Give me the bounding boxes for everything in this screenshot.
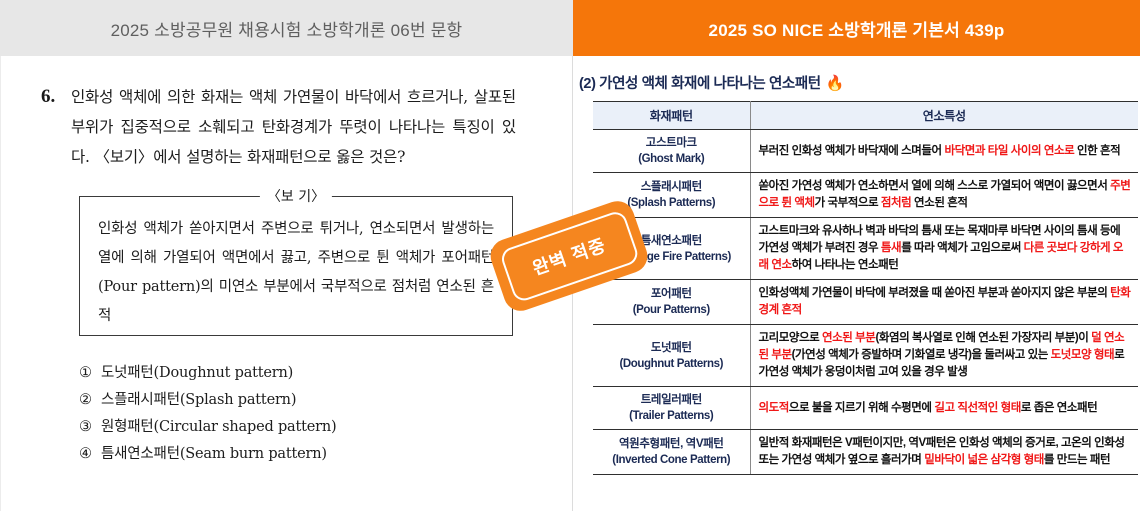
table-header-row: 화재패턴 연소특성 xyxy=(593,102,1138,130)
desc-text: 인한 흔적 xyxy=(1074,145,1120,157)
col-header-pattern: 화재패턴 xyxy=(593,102,750,130)
desc-text: 를 만드는 패턴 xyxy=(1044,454,1110,466)
pattern-desc-cell: 고스트마크와 유사하나 벽과 바닥의 틈새 또는 목재마루 바닥면 사이의 틈새… xyxy=(750,218,1138,280)
table-row: 스플래시패턴(Splash Patterns)쏟아진 가연성 액체가 연소하면서… xyxy=(593,173,1138,218)
choice-4[interactable]: ④ 틈새연소패턴(Seam burn pattern) xyxy=(79,441,532,468)
pattern-name-cell: 고스트마크(Ghost Mark) xyxy=(593,130,750,173)
pattern-name-cell: 트레일러패턴(Trailer Patterns) xyxy=(593,387,750,430)
choice-1[interactable]: ① 도넛패턴(Doughnut pattern) xyxy=(79,360,532,387)
right-panel-textbook: 2025 SO NICE 소방학개론 기본서 439p (2) 가연성 액체 화… xyxy=(573,0,1140,511)
section-title: (2) 가연성 액체 화재에 나타나는 연소패턴 xyxy=(579,72,821,93)
highlighted-keyword: 도넛모양 형태 xyxy=(1051,349,1115,361)
fire-pattern-table: 화재패턴 연소특성 고스트마크(Ghost Mark)부러진 인화성 액체가 바… xyxy=(593,101,1138,475)
highlighted-keyword: 바닥면과 타일 사이의 연소로 xyxy=(944,145,1074,157)
choice-4-label: 틈새연소패턴(Seam burn pattern) xyxy=(101,441,327,468)
question-block: 6. 인화성 액체에 의한 화재는 액체 가연물이 바닥에서 흐르거나, 살포된… xyxy=(41,82,532,172)
desc-text: 연소된 흔적 xyxy=(911,197,967,209)
table-body: 고스트마크(Ghost Mark)부러진 인화성 액체가 바닥재에 스며들어 바… xyxy=(593,130,1138,475)
pattern-name-en: (Doughnut Patterns) xyxy=(597,356,746,372)
highlighted-keyword: 틈새 xyxy=(881,242,901,254)
bogi-passage-box: 〈보 기〉 인화성 액체가 쏟아지면서 주변으로 튀거나, 연소되면서 발생하는… xyxy=(79,196,513,336)
pattern-name-ko: 고스트마크 xyxy=(597,135,746,151)
pattern-name-ko: 스플래시패턴 xyxy=(597,179,746,195)
pattern-name-en: (Inverted Cone Pattern) xyxy=(597,452,746,468)
desc-text: 하여 나타나는 연소패턴 xyxy=(792,259,899,271)
desc-text: 가 국부적으로 xyxy=(815,197,881,209)
table-head: 화재패턴 연소특성 xyxy=(593,102,1138,130)
flame-icon: 🔥 xyxy=(826,74,844,92)
pattern-desc-cell: 일반적 화재패턴은 V패턴이지만, 역V패턴은 인화성 액체의 증거로, 고온의… xyxy=(750,430,1138,475)
pattern-name-cell: 포어패턴(Pour Patterns) xyxy=(593,280,750,325)
pattern-desc-cell: 고리모양으로 연소된 부분(화염의 복사열로 인해 연소된 가장자리 부분)이 … xyxy=(750,325,1138,387)
bogi-text: 인화성 액체가 쏟아지면서 주변으로 튀거나, 연소되면서 발생하는 열에 의해… xyxy=(80,197,512,331)
pattern-desc-cell: 부러진 인화성 액체가 바닥재에 스며들어 바닥면과 타일 사이의 연소로 인한… xyxy=(750,130,1138,173)
choice-3[interactable]: ③ 원형패턴(Circular shaped pattern) xyxy=(79,414,532,441)
question-text: 인화성 액체에 의한 화재는 액체 가연물이 바닥에서 흐르거나, 살포된 부위… xyxy=(71,82,516,172)
highlighted-keyword: 길고 직선적인 형태 xyxy=(934,402,1021,414)
question-number: 6. xyxy=(41,82,71,172)
highlighted-keyword: 의도적 xyxy=(759,402,789,414)
choice-4-marker: ④ xyxy=(79,441,101,468)
answer-choices: ① 도넛패턴(Doughnut pattern) ② 스플래시패턴(Splash… xyxy=(79,360,532,468)
badge-label: 완벽 적중 xyxy=(529,231,610,280)
left-panel-header: 2025 소방공무원 채용시험 소방학개론 06번 문항 xyxy=(0,0,573,56)
table-row: 도넛패턴(Doughnut Patterns)고리모양으로 연소된 부분(화염의… xyxy=(593,325,1138,387)
comparison-page: 2025 소방공무원 채용시험 소방학개론 06번 문항 6. 인화성 액체에 … xyxy=(0,0,1140,511)
desc-text: 인화성액체 가연물이 바닥에 부려졌을 때 쏟아진 부분과 쏟아지지 않은 부분… xyxy=(759,287,1111,299)
section-title-row: (2) 가연성 액체 화재에 나타나는 연소패턴 🔥 xyxy=(573,68,1140,101)
pattern-name-ko: 트레일러패턴 xyxy=(597,392,746,408)
desc-text: 고리모양으로 xyxy=(759,332,823,344)
desc-text: 를 따라 액체가 고임으로써 xyxy=(901,242,1023,254)
desc-text: (가연성 액체가 증발하며 기화열로 냉각)을 둘러싸고 있는 xyxy=(792,349,1051,361)
table-row: 고스트마크(Ghost Mark)부러진 인화성 액체가 바닥재에 스며들어 바… xyxy=(593,130,1138,173)
pattern-name-cell: 역원추형패턴, 역V패턴(Inverted Cone Pattern) xyxy=(593,430,750,475)
pattern-name-ko: 도넛패턴 xyxy=(597,340,746,356)
pattern-name-cell: 도넛패턴(Doughnut Patterns) xyxy=(593,325,750,387)
table-row: 역원추형패턴, 역V패턴(Inverted Cone Pattern)일반적 화… xyxy=(593,430,1138,475)
table-row: 틈새연소패턴(Seepage Fire Patterns)고스트마크와 유사하나… xyxy=(593,218,1138,280)
desc-text: (화염의 복사열로 인해 연소된 가장자리 부분)이 xyxy=(875,332,1091,344)
choice-1-label: 도넛패턴(Doughnut pattern) xyxy=(101,360,293,387)
pattern-name-en: (Pour Patterns) xyxy=(597,302,746,318)
table-row: 트레일러패턴(Trailer Patterns)의도적으로 불을 지르기 위해 … xyxy=(593,387,1138,430)
desc-text: 쏟아진 가연성 액체가 연소하면서 열에 의해 스스로 가열되어 액면이 끓으면… xyxy=(759,180,1111,192)
desc-text: 부러진 인화성 액체가 바닥재에 스며들어 xyxy=(759,145,945,157)
desc-text: 로 좁은 연소패턴 xyxy=(1021,402,1097,414)
choice-2[interactable]: ② 스플래시패턴(Splash pattern) xyxy=(79,387,532,414)
pattern-name-en: (Ghost Mark) xyxy=(597,151,746,167)
right-panel-header: 2025 SO NICE 소방학개론 기본서 439p xyxy=(573,0,1140,56)
highlighted-keyword: 밑바닥이 넓은 삼각형 형태 xyxy=(924,454,1044,466)
left-panel-body: 6. 인화성 액체에 의한 화재는 액체 가연물이 바닥에서 흐르거나, 살포된… xyxy=(0,56,573,511)
pattern-name-ko: 포어패턴 xyxy=(597,286,746,302)
pattern-name-ko: 역원추형패턴, 역V패턴 xyxy=(597,436,746,452)
table-row: 포어패턴(Pour Patterns)인화성액체 가연물이 바닥에 부려졌을 때… xyxy=(593,280,1138,325)
col-header-characteristics: 연소특성 xyxy=(750,102,1138,130)
choice-3-marker: ③ xyxy=(79,414,101,441)
pattern-desc-cell: 인화성액체 가연물이 바닥에 부려졌을 때 쏟아진 부분과 쏟아지지 않은 부분… xyxy=(750,280,1138,325)
choice-2-marker: ② xyxy=(79,387,101,414)
highlighted-keyword: 연소된 부분 xyxy=(822,332,875,344)
right-panel-body: (2) 가연성 액체 화재에 나타나는 연소패턴 🔥 화재패턴 연소특성 고스트… xyxy=(573,56,1140,511)
pattern-name-en: (Trailer Patterns) xyxy=(597,408,746,424)
choice-2-label: 스플래시패턴(Splash pattern) xyxy=(101,387,296,414)
pattern-desc-cell: 쏟아진 가연성 액체가 연소하면서 열에 의해 스스로 가열되어 액면이 끓으면… xyxy=(750,173,1138,218)
left-panel-exam-question: 2025 소방공무원 채용시험 소방학개론 06번 문항 6. 인화성 액체에 … xyxy=(0,0,573,511)
choice-3-label: 원형패턴(Circular shaped pattern) xyxy=(101,414,336,441)
choice-1-marker: ① xyxy=(79,360,101,387)
pattern-desc-cell: 의도적으로 불을 지르기 위해 수평면에 길고 직선적인 형태로 좁은 연소패턴 xyxy=(750,387,1138,430)
desc-text: 으로 불을 지르기 위해 수평면에 xyxy=(789,402,934,414)
bogi-label: 〈보 기〉 xyxy=(260,186,332,206)
highlighted-keyword: 점처럼 xyxy=(881,197,911,209)
